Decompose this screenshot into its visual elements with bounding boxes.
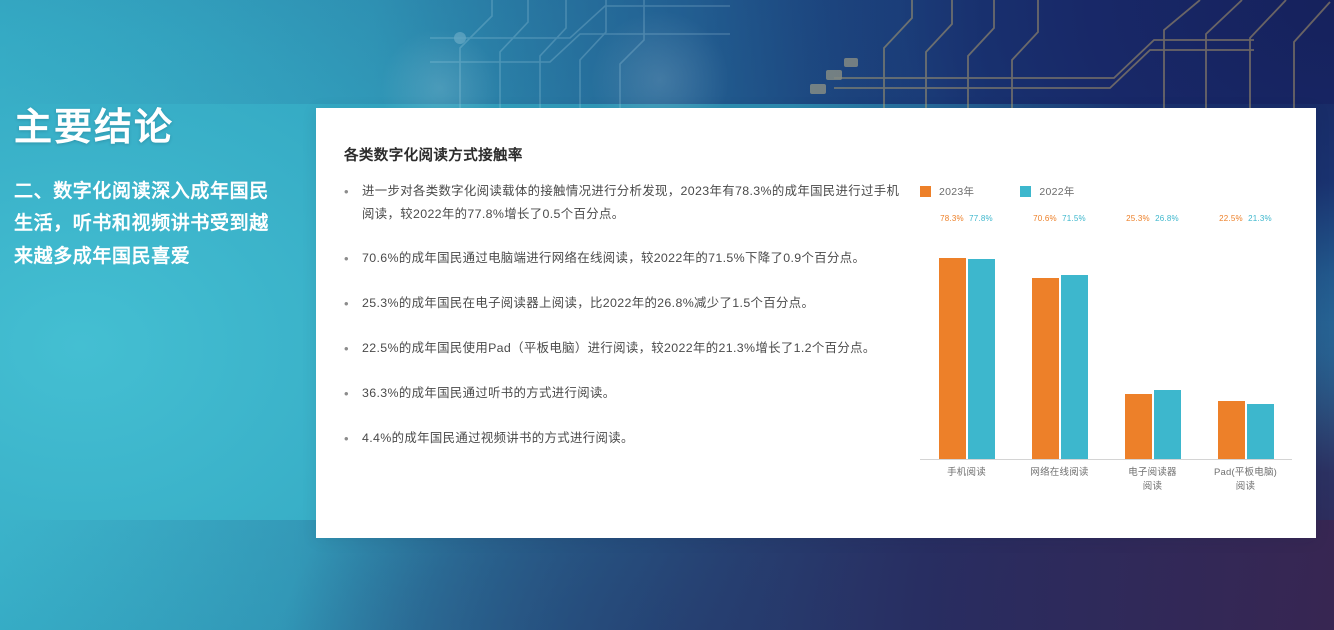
chart-bar-group: 25.3%26.8% [1106,228,1199,459]
chart-bar-wrapper: 77.8% [968,228,995,459]
content-card: 各类数字化阅读方式接触率 • 进一步对各类数字化阅读载体的接触情况进行分析发现，… [316,108,1316,538]
chart-bar-value-label: 22.5% [1219,214,1243,223]
bar-chart: 2023年 2022年 78.3%77.8%70.6%71.5%25.3%26.… [912,166,1298,516]
chart-bar[interactable]: 22.5% [1218,401,1245,459]
chart-bar-pair: 25.3%26.8% [1106,228,1199,459]
left-text-panel: 主要结论 二、数字化阅读深入成年国民生活，听书和视频讲书受到越来越多成年国民喜爱 [14,108,300,274]
chart-bar-pair: 70.6%71.5% [1013,228,1106,459]
bullet-marker-icon: • [342,292,362,316]
chart-bar-pair: 78.3%77.8% [920,228,1013,459]
chart-bar-wrapper: 21.3% [1247,228,1274,459]
slide-root: 主要结论 二、数字化阅读深入成年国民生活，听书和视频讲书受到越来越多成年国民喜爱… [0,0,1334,630]
chart-bar-value-label: 78.3% [940,214,964,223]
bullet-marker-icon: • [342,337,362,361]
legend-label: 2023年 [939,184,974,199]
list-item-text: 36.3%的成年国民通过听书的方式进行阅读。 [362,382,902,405]
list-item: • 进一步对各类数字化阅读载体的接触情况进行分析发现，2023年有78.3%的成… [342,180,902,226]
chart-x-axis-line [920,459,1292,460]
chart-bar-wrapper: 78.3% [939,228,966,459]
chart-bar-wrapper: 26.8% [1154,228,1181,459]
list-item: • 36.3%的成年国民通过听书的方式进行阅读。 [342,382,902,406]
page-subtitle: 二、数字化阅读深入成年国民生活，听书和视频讲书受到越来越多成年国民喜爱 [14,176,276,274]
legend-swatch-icon [1020,186,1031,197]
bullet-marker-icon: • [342,180,362,204]
chart-x-tick-label: 手机阅读 [920,466,1013,494]
chart-bar[interactable]: 71.5% [1061,275,1088,459]
chart-bar[interactable]: 21.3% [1247,404,1274,459]
chart-bar[interactable]: 78.3% [939,258,966,459]
chart-x-tick-label: Pad(平板电脑)阅读 [1199,466,1292,494]
chart-bar-wrapper: 71.5% [1061,228,1088,459]
chart-x-tick-label: 网络在线阅读 [1013,466,1106,494]
list-item: • 25.3%的成年国民在电子阅读器上阅读，比2022年的26.8%减少了1.5… [342,292,902,316]
list-item: • 22.5%的成年国民使用Pad（平板电脑）进行阅读，较2022年的21.3%… [342,337,902,361]
chart-bar-wrapper: 25.3% [1125,228,1152,459]
legend-label: 2022年 [1039,184,1074,199]
list-item: • 70.6%的成年国民通过电脑端进行网络在线阅读，较2022年的71.5%下降… [342,247,902,271]
chart-bar-groups: 78.3%77.8%70.6%71.5%25.3%26.8%22.5%21.3% [920,228,1292,459]
card-title: 各类数字化阅读方式接触率 [344,144,523,165]
bullet-marker-icon: • [342,247,362,271]
chart-bar-value-label: 70.6% [1033,214,1057,223]
legend-swatch-icon [920,186,931,197]
legend-item-2023: 2023年 [920,184,974,199]
chart-bar[interactable]: 25.3% [1125,394,1152,459]
chart-x-tick-label: 电子阅读器阅读 [1106,466,1199,494]
chart-bar-pair: 22.5%21.3% [1199,228,1292,459]
chart-bar-group: 70.6%71.5% [1013,228,1106,459]
list-item-text: 22.5%的成年国民使用Pad（平板电脑）进行阅读，较2022年的21.3%增长… [362,337,902,360]
page-title: 主要结论 [14,108,300,150]
chart-x-axis-labels: 手机阅读网络在线阅读电子阅读器阅读Pad(平板电脑)阅读 [920,466,1292,494]
chart-bar-value-label: 77.8% [969,214,993,223]
list-item-text: 25.3%的成年国民在电子阅读器上阅读，比2022年的26.8%减少了1.5个百… [362,292,902,315]
list-item-text: 4.4%的成年国民通过视频讲书的方式进行阅读。 [362,427,902,450]
bullet-list: • 进一步对各类数字化阅读载体的接触情况进行分析发现，2023年有78.3%的成… [342,180,902,472]
chart-bar-group: 22.5%21.3% [1199,228,1292,459]
chart-bar-value-label: 21.3% [1248,214,1272,223]
chart-bar[interactable]: 70.6% [1032,278,1059,459]
chart-bar-value-label: 71.5% [1062,214,1086,223]
legend-item-2022: 2022年 [1020,184,1074,199]
chart-bar-value-label: 26.8% [1155,214,1179,223]
chart-bar[interactable]: 77.8% [968,259,995,459]
chart-bar-wrapper: 70.6% [1032,228,1059,459]
list-item-text: 70.6%的成年国民通过电脑端进行网络在线阅读，较2022年的71.5%下降了0… [362,247,902,270]
chart-legend: 2023年 2022年 [920,184,1075,199]
chart-bar-wrapper: 22.5% [1218,228,1245,459]
bullet-marker-icon: • [342,427,362,451]
list-item: • 4.4%的成年国民通过视频讲书的方式进行阅读。 [342,427,902,451]
chart-bar[interactable]: 26.8% [1154,390,1181,459]
chart-bar-value-label: 25.3% [1126,214,1150,223]
chart-plot-area: 78.3%77.8%70.6%71.5%25.3%26.8%22.5%21.3% [920,228,1292,460]
list-item-text: 进一步对各类数字化阅读载体的接触情况进行分析发现，2023年有78.3%的成年国… [362,180,902,226]
bullet-marker-icon: • [342,382,362,406]
chart-bar-group: 78.3%77.8% [920,228,1013,459]
